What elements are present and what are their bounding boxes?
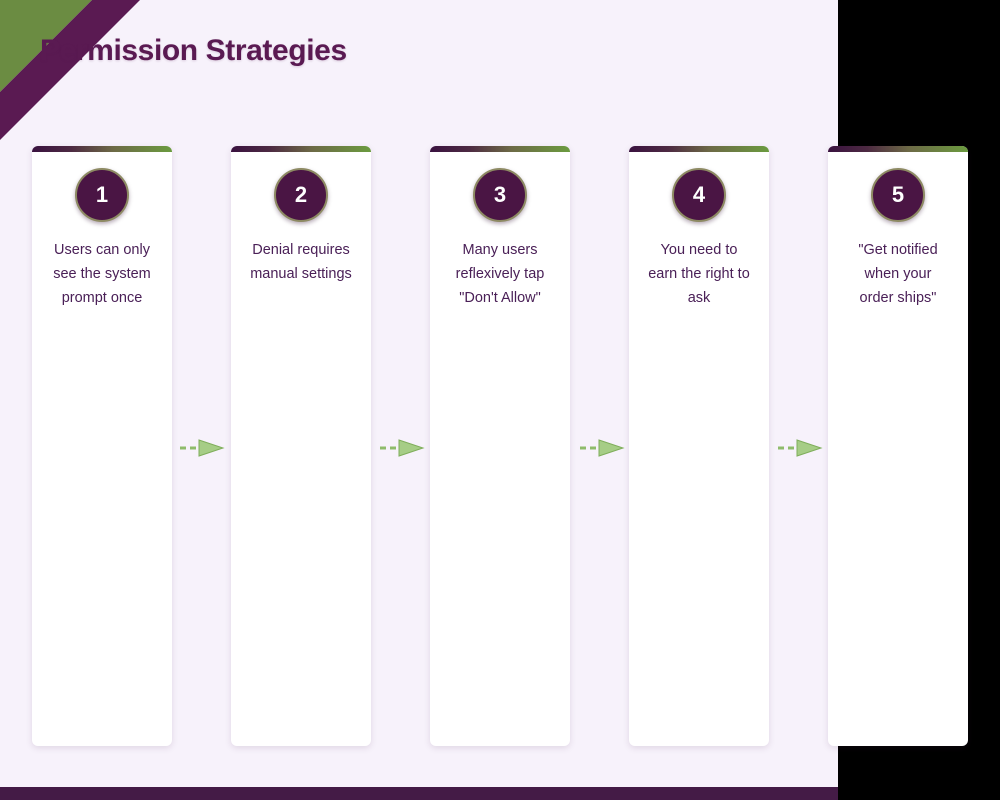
step-description: Users can only see the system prompt onc… <box>50 238 154 310</box>
slide-canvas: Permission Strategies <box>0 0 838 800</box>
card-body: 4 You need to earn the right to ask <box>629 152 769 310</box>
page-title: Permission Strategies <box>40 34 347 68</box>
step-description: "Get notified when your order ships" <box>846 238 950 310</box>
connector-arrow-2-to-3 <box>378 438 428 458</box>
footer-bar <box>0 787 838 800</box>
arrow-right-icon <box>178 438 228 458</box>
card-body: 1 Users can only see the system prompt o… <box>32 152 172 310</box>
step-number-badge: 4 <box>672 168 726 222</box>
step-number-badge: 2 <box>274 168 328 222</box>
connector-arrow-3-to-4 <box>578 438 628 458</box>
step-number-badge: 1 <box>75 168 129 222</box>
step-card-1[interactable]: 1 Users can only see the system prompt o… <box>32 146 172 746</box>
step-description: Many users reflexively tap "Don't Allow" <box>448 238 552 310</box>
corner-decoration-svg <box>0 0 160 160</box>
step-number-badge: 5 <box>871 168 925 222</box>
connector-arrow-1-to-2 <box>178 438 228 458</box>
card-body: 3 Many users reflexively tap "Don't Allo… <box>430 152 570 310</box>
step-number-badge: 3 <box>473 168 527 222</box>
step-card-5[interactable]: 5 "Get notified when your order ships" <box>828 146 968 746</box>
step-card-3[interactable]: 3 Many users reflexively tap "Don't Allo… <box>430 146 570 746</box>
arrow-right-icon <box>578 438 628 458</box>
arrow-right-icon <box>378 438 428 458</box>
card-body: 5 "Get notified when your order ships" <box>828 152 968 310</box>
card-body: 2 Denial requires manual settings <box>231 152 371 286</box>
corner-purple-band <box>0 0 140 140</box>
step-description: You need to earn the right to ask <box>647 238 751 310</box>
connector-arrow-4-to-5 <box>776 438 826 458</box>
arrow-right-icon <box>776 438 826 458</box>
step-card-2[interactable]: 2 Denial requires manual settings <box>231 146 371 746</box>
step-card-4[interactable]: 4 You need to earn the right to ask <box>629 146 769 746</box>
corner-decoration <box>0 0 160 160</box>
step-description: Denial requires manual settings <box>249 238 353 286</box>
slide-root: Permission Strategies <box>0 0 1000 800</box>
